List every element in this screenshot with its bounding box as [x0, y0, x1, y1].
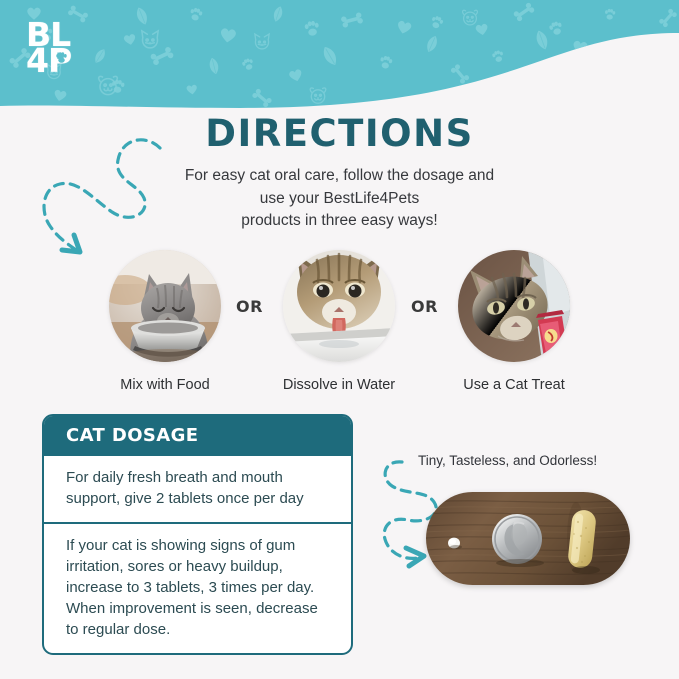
method-label: Use a Cat Treat [439, 377, 589, 393]
cat-dosage-increase-text: If your cat is showing signs of gum irri… [44, 524, 351, 653]
or-separator: OR [236, 297, 263, 316]
cat-dosage-card-header: CAT DOSAGE [44, 416, 351, 456]
header-banner: BL 4P [0, 0, 679, 120]
dashed-curved-arrow-icon [34, 132, 164, 257]
method-mix-with-food[interactable]: Mix with Food [90, 250, 240, 393]
or-separator: OR [411, 297, 438, 316]
brand-logo[interactable]: BL 4P [26, 18, 88, 84]
brand-logo-line-2: 4P [26, 44, 88, 77]
cat-eating-from-bowl-photo [109, 250, 221, 362]
method-dissolve-in-water[interactable]: Dissolve in Water [264, 250, 414, 393]
methods-row: Mix with Food OR [0, 250, 679, 395]
cat-dosage-card: CAT DOSAGE For daily fresh breath and mo… [42, 414, 353, 655]
cat-licking-water-photo [283, 250, 395, 362]
cat-with-treat-packet-photo [458, 250, 570, 362]
paw-print-icon [55, 51, 68, 64]
cat-dosage-daily-text: For daily fresh breath and mouth support… [44, 456, 351, 524]
method-use-a-cat-treat[interactable]: Use a Cat Treat [439, 250, 589, 393]
wooden-board-photo [426, 492, 630, 585]
method-label: Mix with Food [90, 377, 240, 393]
method-label: Dissolve in Water [264, 377, 414, 393]
